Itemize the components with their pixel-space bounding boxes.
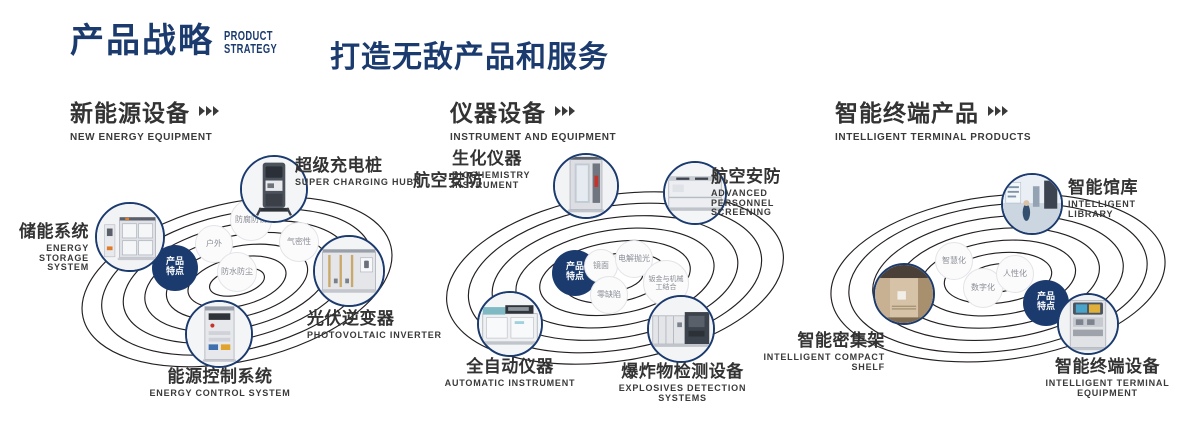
- node-label-en: INTELLIGENT COMPACT SHELF: [755, 353, 885, 373]
- self-service-kiosk-photo: [1059, 295, 1117, 353]
- node-label-super-charging-hub: 超级充电桩 SUPER CHARGING HUB: [295, 157, 415, 188]
- core-bubble-line2: 特点: [166, 267, 184, 277]
- node-label-en: ADVANCED PERSONNEL SCREENING: [711, 189, 821, 219]
- node-energy-control-system[interactable]: [185, 300, 253, 368]
- node-label-en: AUTOMATIC INSTRUMENT: [425, 379, 595, 389]
- feature-bubble: 气密性: [279, 222, 319, 262]
- core-bubble-line1: 产品: [1037, 292, 1055, 302]
- node-label-cn: 智能密集架: [755, 332, 885, 351]
- node-label-intelligent-compact-shelf: 智能密集架 INTELLIGENT COMPACT SHELF: [755, 332, 885, 372]
- node-intelligent-compact-shelf[interactable]: [873, 263, 935, 325]
- cluster-instrument-and-equipment: 产品特点 镜面 电解抛光 零缺陷 钣金与机械工结合 航空安防 生化仪器 BI: [425, 160, 805, 395]
- node-explosives-detection-systems[interactable]: [647, 295, 715, 363]
- core-bubble-line2: 特点: [566, 272, 584, 282]
- node-label-en: ENERGY CONTROL SYSTEM: [115, 389, 325, 399]
- automatic-instrument-photo: [479, 293, 541, 355]
- node-label-cn: 爆炸物检测设备: [605, 363, 760, 382]
- node-label-cn: 储能系统: [3, 223, 89, 242]
- node-label-cn: 生化仪器: [452, 150, 557, 169]
- section-title-en: INSTRUMENT AND EQUIPMENT: [450, 132, 616, 143]
- node-label-en: EXPLOSIVES DETECTION SYSTEMS: [605, 384, 760, 404]
- page-subtitle: 打造无敌产品和服务: [330, 32, 609, 76]
- cluster-new-energy-equipment: 产品特点 户外 防腐防锈 气密性 防水防尘 储能系统: [55, 160, 420, 395]
- section-title-en: NEW ENERGY EQUIPMENT: [70, 132, 219, 143]
- section-title-instrument-and-equipment: 仪器设备 INSTRUMENT AND EQUIPMENT: [450, 94, 616, 143]
- node-label-intelligent-terminal-equipment: 智能终端设备 INTELLIGENT TERMINAL EQUIPMENT: [1020, 358, 1195, 398]
- node-label-photovoltaic-inverter: 光伏逆变器 PHOTOVOLTAIC INVERTER: [307, 310, 442, 341]
- node-label-en: BIOCHEMISTRY INSTRUMENT: [452, 171, 557, 191]
- node-label-cn: 超级充电桩: [295, 157, 415, 176]
- node-label-advanced-personnel-screening: 航空安防 ADVANCED PERSONNEL SCREENING: [711, 168, 821, 218]
- biochemistry-instrument-photo: [555, 155, 617, 217]
- section-title-cn: 新能源设备: [70, 94, 190, 128]
- page-title-cn: 产品战略: [70, 24, 214, 58]
- cluster-intelligent-terminal-products: 智慧化 数字化 人性化 产品特点 智能馆库 INTELLIG: [815, 160, 1185, 395]
- section-title-cn: 智能终端产品: [835, 94, 979, 128]
- node-label-cn: 能源控制系统: [115, 368, 325, 387]
- chevron-right-triple-icon: [988, 106, 1008, 116]
- node-label-energy-storage-system: 储能系统 ENERGY STORAGE SYSTEM: [3, 223, 89, 273]
- chevron-right-triple-icon: [555, 106, 575, 116]
- photovoltaic-inverter-photo: [315, 237, 383, 305]
- page-title-en-line2: STRATEGY: [224, 42, 277, 55]
- section-title-en: INTELLIGENT TERMINAL PRODUCTS: [835, 132, 1031, 143]
- section-title-intelligent-terminal-products: 智能终端产品 INTELLIGENT TERMINAL PRODUCTS: [835, 94, 1031, 143]
- node-energy-storage-system[interactable]: [95, 202, 165, 272]
- core-bubble-line1: 产品: [566, 262, 584, 272]
- node-label-cn: 全自动仪器: [425, 358, 595, 377]
- node-label-cn: 智能馆库: [1068, 179, 1183, 198]
- intelligent-library-interior-photo: [1003, 175, 1061, 233]
- core-bubble-line1: 产品: [166, 257, 184, 267]
- node-intelligent-library[interactable]: [1001, 173, 1063, 235]
- energy-storage-cabinet-photo: [97, 204, 163, 270]
- node-label-cn: 光伏逆变器: [307, 310, 442, 329]
- section-title-cn: 仪器设备: [450, 94, 546, 128]
- page-title-en: PRODUCT STRATEGY: [224, 29, 277, 59]
- node-label-automatic-instrument: 全自动仪器 AUTOMATIC INSTRUMENT: [425, 358, 595, 389]
- node-label-en: INTELLIGENT TERMINAL EQUIPMENT: [1020, 379, 1195, 399]
- page-title-en-line1: PRODUCT: [224, 29, 277, 42]
- section-title-new-energy-equipment: 新能源设备 NEW ENERGY EQUIPMENT: [70, 94, 219, 143]
- page-title: 产品战略 PRODUCT STRATEGY: [70, 24, 298, 58]
- node-label-en: PHOTOVOLTAIC INVERTER: [307, 331, 442, 341]
- node-biochemistry-instrument[interactable]: [553, 153, 619, 219]
- node-intelligent-terminal-equipment[interactable]: [1057, 293, 1119, 355]
- core-bubble-line2: 特点: [1037, 302, 1055, 312]
- node-label-intelligent-library: 智能馆库 INTELLIGENT LIBRARY: [1068, 179, 1183, 219]
- poster-canvas: 产品战略 PRODUCT STRATEGY 打造无敌产品和服务 新能源设备 NE…: [0, 0, 1200, 422]
- node-label-en: INTELLIGENT LIBRARY: [1068, 200, 1183, 220]
- node-label-cn: 智能终端设备: [1020, 358, 1195, 377]
- node-label-energy-control-system: 能源控制系统 ENERGY CONTROL SYSTEM: [115, 368, 325, 399]
- compact-shelving-photo: [875, 265, 933, 323]
- explosives-detection-system-photo: [649, 297, 713, 361]
- node-label-en: SUPER CHARGING HUB: [295, 178, 415, 188]
- node-label-en: ENERGY STORAGE SYSTEM: [3, 244, 89, 274]
- node-label-biochemistry-instrument: 生化仪器 BIOCHEMISTRY INSTRUMENT: [452, 150, 557, 190]
- energy-control-cabinet-photo: [187, 302, 251, 366]
- chevron-right-triple-icon: [199, 106, 219, 116]
- feature-bubble: 防水防尘: [217, 252, 257, 292]
- node-label-cn: 航空安防: [711, 168, 821, 187]
- node-label-explosives-detection-systems: 爆炸物检测设备 EXPLOSIVES DETECTION SYSTEMS: [605, 363, 760, 403]
- node-automatic-instrument[interactable]: [477, 291, 543, 357]
- node-photovoltaic-inverter[interactable]: [313, 235, 385, 307]
- feature-bubble: 零缺陷: [590, 276, 628, 314]
